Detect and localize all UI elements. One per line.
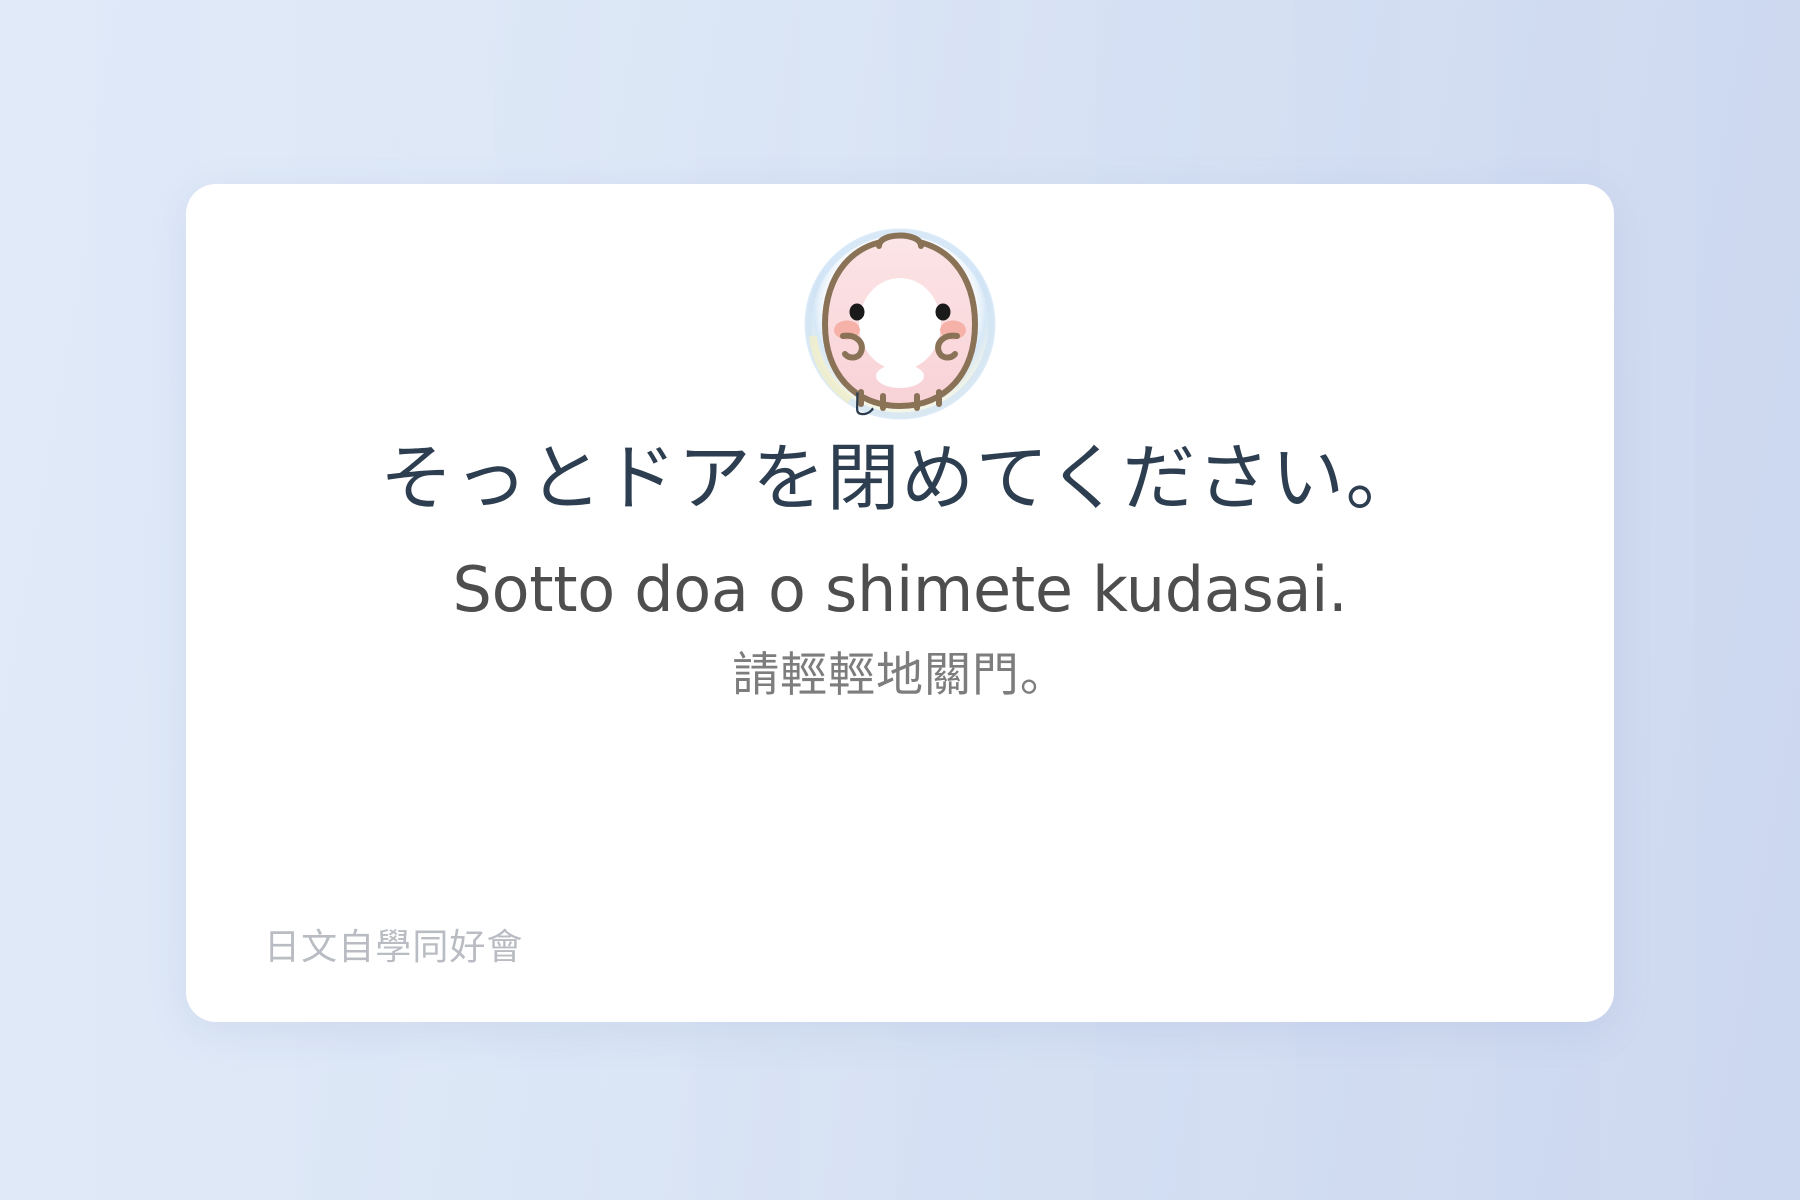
japanese-sentence-before-ruby: そっとドアを [380,436,827,521]
romaji-reading: Sotto doa o shimete kudasai. [453,556,1348,624]
kanji-base: 閉 [827,436,901,521]
footer-brand-label: 日文自學同好會 [264,930,524,966]
furigana-reading: し [850,392,878,419]
flashcard-content: そっとドアをし閉めてください。 Sotto doa o shimete kuda… [186,184,1614,1022]
pink-round-mascot-icon [795,224,1005,424]
mascot-container [795,224,1005,424]
japanese-sentence: そっとドアをし閉めてください。 [380,436,1420,522]
chinese-translation: 請輕輕地關門。 [732,648,1068,704]
flashcard: そっとドアをし閉めてください。 Sotto doa o shimete kuda… [186,184,1614,1022]
japanese-sentence-after-ruby: めてください。 [901,436,1420,521]
furigana-group: し閉 [827,436,901,522]
